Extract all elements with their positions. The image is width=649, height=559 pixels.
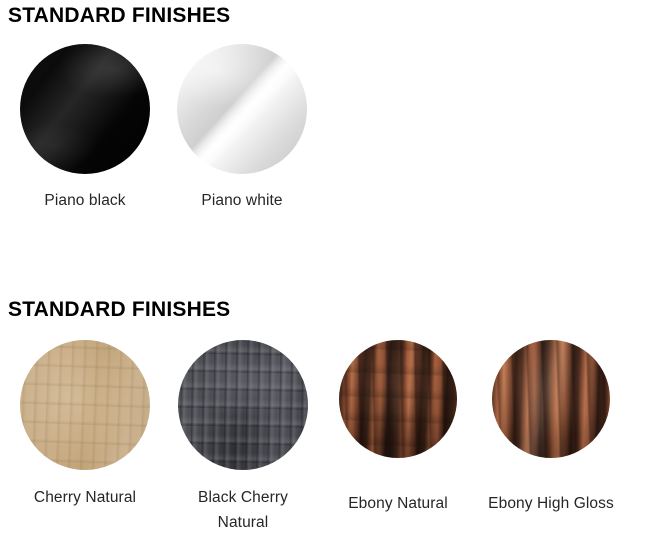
piano-white-swatch-icon[interactable]: [177, 44, 307, 174]
swatch-ebony-natural[interactable]: Ebony Natural: [339, 340, 457, 458]
swatch-piano-black[interactable]: Piano black: [20, 44, 150, 174]
swatch-label-ebony-high-gloss: Ebony High Gloss: [473, 491, 629, 516]
ebony-high-gloss-swatch-icon[interactable]: [492, 340, 610, 458]
finishes-page: STANDARD FINISHES Piano black Piano whit…: [0, 0, 649, 559]
cherry-natural-grain-overlay: [20, 340, 150, 470]
swatch-ebony-high-gloss[interactable]: Ebony High Gloss: [492, 340, 610, 458]
ebony-natural-grain-overlay: [339, 340, 457, 458]
ebony-natural-swatch-icon[interactable]: [339, 340, 457, 458]
swatch-label-piano-white: Piano white: [157, 188, 327, 213]
page-title-standard-finishes-1: STANDARD FINISHES: [8, 4, 230, 28]
swatch-label-cherry-natural: Cherry Natural: [0, 485, 170, 510]
swatch-piano-white[interactable]: Piano white: [177, 44, 307, 174]
swatch-black-cherry-natural[interactable]: Black Cherry Natural: [178, 340, 308, 470]
swatch-label-ebony-natural: Ebony Natural: [309, 491, 487, 516]
swatch-label-piano-black: Piano black: [0, 188, 170, 213]
swatch-label-black-cherry-natural: Black Cherry Natural: [172, 485, 314, 535]
swatch-cherry-natural[interactable]: Cherry Natural: [20, 340, 150, 470]
piano-white-gloss-overlay: [177, 44, 307, 174]
cherry-natural-swatch-icon[interactable]: [20, 340, 150, 470]
black-cherry-natural-grain-overlay: [178, 340, 308, 470]
ebony-high-gloss-grain-overlay: [492, 340, 610, 458]
black-cherry-natural-swatch-icon[interactable]: [178, 340, 308, 470]
piano-black-gloss-overlay: [20, 44, 150, 174]
page-title-standard-finishes-2: STANDARD FINISHES: [8, 298, 230, 322]
piano-black-swatch-icon[interactable]: [20, 44, 150, 174]
